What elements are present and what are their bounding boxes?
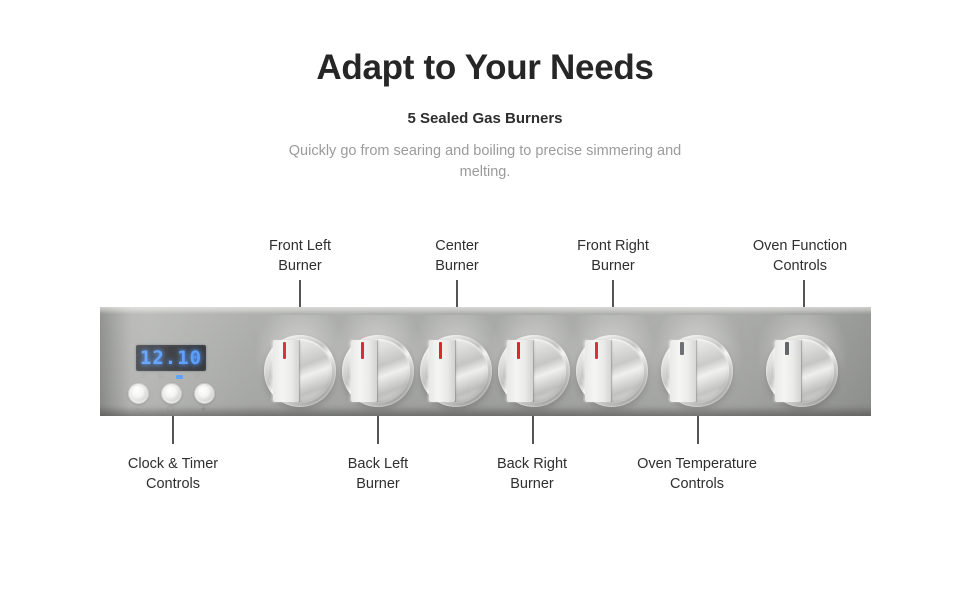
display-indicator-row: Θ ▤ ◴ [136, 372, 206, 381]
callout-line-1: Oven Function [715, 236, 885, 256]
knob-indicator-mark [517, 342, 520, 359]
display-value: 12.10 [140, 349, 202, 368]
product-feature-graphic: Adapt to Your Needs 5 Sealed Gas Burners… [0, 0, 970, 600]
knob-seam [696, 340, 697, 402]
panel-top-highlight [100, 307, 871, 314]
stop-button[interactable] [161, 383, 182, 404]
timer-clock-icon: ◴ [194, 373, 200, 381]
callout-line-1: Back Right [452, 454, 612, 474]
callout-line-2: Burner [220, 256, 380, 276]
knob-body[interactable] [576, 335, 648, 407]
callout-line-2: Burner [452, 474, 612, 494]
knob-body[interactable] [420, 335, 492, 407]
callout-line-1: Front Left [220, 236, 380, 256]
callout-line-1: Back Left [298, 454, 458, 474]
callout-front-right-burner: Front Right Burner [533, 236, 693, 276]
fan-icon [176, 375, 183, 379]
knob-indicator-mark [595, 342, 598, 359]
knob-indicator-mark [680, 342, 684, 355]
leader-line-clock-timer-controls [172, 416, 174, 444]
range-control-panel: 12.10 Θ ▤ ◴ − □ + [100, 307, 871, 416]
leader-line-center-burner [456, 280, 458, 308]
knob-seam [377, 340, 378, 402]
callout-line-2: Controls [715, 256, 885, 276]
knob-oven-temperature[interactable]: °F [661, 335, 733, 407]
knob-seam [611, 340, 612, 402]
knob-indicator-mark [439, 342, 442, 359]
leader-line-back-left-burner [377, 416, 379, 444]
callout-line-1: Clock & Timer [92, 454, 254, 474]
clock-timer-button-row: − □ + [128, 383, 214, 413]
callout-line-2: Burner [377, 256, 537, 276]
callout-line-2: Controls [607, 474, 787, 494]
callout-line-1: Oven Temperature [607, 454, 787, 474]
plus-button-label: + [194, 404, 213, 414]
page-subtitle: 5 Sealed Gas Burners [0, 90, 970, 129]
knob-seam [801, 340, 802, 402]
callout-center-burner: Center Burner [377, 236, 537, 276]
stop-button-label: □ [161, 404, 180, 414]
callout-back-left-burner: Back Left Burner [298, 454, 458, 494]
callout-line-1: Center [377, 236, 537, 256]
callout-oven-function-controls: Oven Function Controls [715, 236, 885, 276]
page-title: Adapt to Your Needs [0, 46, 970, 90]
knob-front-left-burner[interactable] [264, 335, 336, 407]
minus-button-label: − [128, 404, 147, 414]
knob-front-right-burner[interactable] [576, 335, 648, 407]
callout-clock-timer-controls: Clock & Timer Controls [92, 454, 254, 494]
leader-line-back-right-burner [532, 416, 534, 444]
knob-seam [455, 340, 456, 402]
knob-pointer-face [585, 340, 611, 402]
leader-line-oven-temperature-controls [697, 416, 699, 444]
knob-pointer-face [507, 340, 533, 402]
callout-line-1: Front Right [533, 236, 693, 256]
knob-body[interactable] [498, 335, 570, 407]
heading-block: Adapt to Your Needs 5 Sealed Gas Burners… [0, 46, 970, 183]
knob-indicator-mark [361, 342, 364, 359]
knob-body[interactable] [661, 335, 733, 407]
knob-indicator-mark [283, 342, 286, 359]
temperature-probe-icon: Θ [142, 373, 147, 381]
knob-body[interactable] [264, 335, 336, 407]
knob-indicator-mark [785, 342, 789, 355]
leader-line-oven-function-controls [803, 280, 805, 308]
leader-line-front-right-burner [612, 280, 614, 308]
callout-oven-temperature-controls: Oven Temperature Controls [607, 454, 787, 494]
callout-line-2: Burner [298, 474, 458, 494]
knob-pointer-face [429, 340, 455, 402]
knob-oven-function[interactable] [766, 335, 838, 407]
callout-line-2: Burner [533, 256, 693, 276]
plus-button[interactable] [194, 383, 215, 404]
knob-pointer-face [351, 340, 377, 402]
oven-icon: ▤ [158, 373, 165, 381]
callout-front-left-burner: Front Left Burner [220, 236, 380, 276]
knob-seam [533, 340, 534, 402]
minus-button[interactable] [128, 383, 149, 404]
knob-seam [299, 340, 300, 402]
knob-body[interactable] [342, 335, 414, 407]
callout-line-2: Controls [92, 474, 254, 494]
knob-pointer-face [273, 340, 299, 402]
leader-line-front-left-burner [299, 280, 301, 308]
page-description: Quickly go from searing and boiling to p… [275, 129, 695, 183]
knob-body[interactable] [766, 335, 838, 407]
knob-back-left-burner[interactable] [342, 335, 414, 407]
panel-bottom-shadow [100, 407, 871, 416]
digital-display[interactable]: 12.10 [136, 345, 206, 371]
knob-back-right-burner[interactable] [498, 335, 570, 407]
knob-center-burner[interactable] [420, 335, 492, 407]
callout-back-right-burner: Back Right Burner [452, 454, 612, 494]
